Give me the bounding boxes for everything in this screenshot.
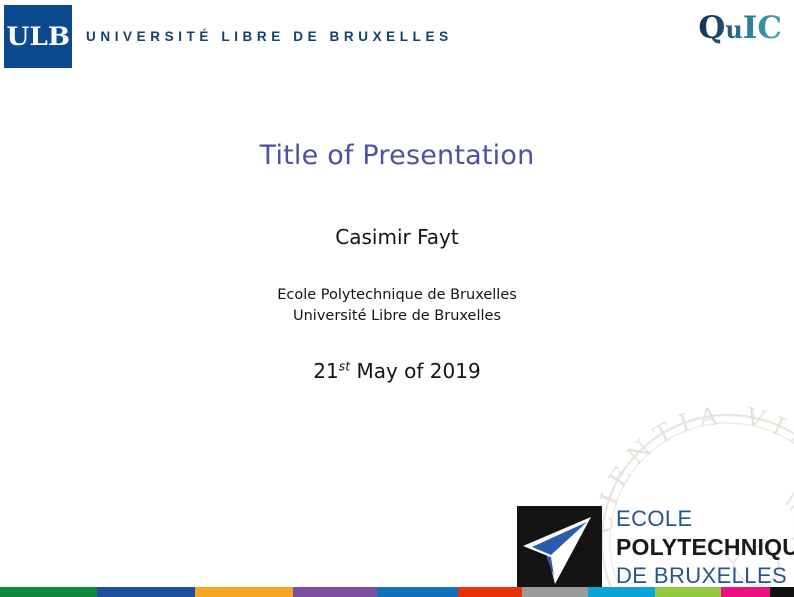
bottom-color-bar: [0, 587, 794, 597]
institute-line-2: Université Libre de Bruxelles: [0, 306, 794, 327]
epb-line-de-bruxelles: DE BRUXELLES: [616, 565, 794, 587]
ulb-logo-box: ULB: [4, 5, 72, 68]
color-bar-segment-black: [770, 587, 794, 597]
color-bar-segment-gray: [522, 587, 588, 597]
color-bar-segment-orange: [195, 587, 293, 597]
quic-logo: QuIC: [698, 13, 782, 44]
institute-line-1: Ecole Polytechnique de Bruxelles: [0, 285, 794, 306]
epb-line-ecole: ECOLE: [616, 508, 794, 530]
color-bar-segment-dark-blue: [97, 587, 196, 597]
ulb-wordmark-text: UNIVERSITÉ LIBRE DE BRUXELLES: [86, 29, 453, 44]
epb-line-polytechnique: POLYTECHNIQUE: [616, 536, 794, 559]
color-bar-segment-cyan: [588, 587, 655, 597]
ecole-polytechnique-logo: ECOLE POLYTECHNIQUE DE BRUXELLES: [517, 506, 794, 591]
title-block: Title of Presentation Casimir Fayt Ecole…: [0, 140, 794, 383]
color-bar-segment-magenta: [721, 587, 770, 597]
slide-header: ULB UNIVERSITÉ LIBRE DE BRUXELLES QuIC: [0, 0, 794, 75]
date-day-number: 21: [313, 359, 338, 383]
arrow-icon: [517, 506, 602, 591]
page-title: Title of Presentation: [0, 140, 794, 172]
color-bar-segment-azure-blue: [377, 587, 459, 597]
presentation-date: 21st May of 2019: [0, 359, 794, 383]
quic-logo-letters-ic: IC: [743, 10, 782, 46]
ulb-logo: ULB UNIVERSITÉ LIBRE DE BRUXELLES: [4, 5, 453, 68]
color-bar-segment-red: [458, 587, 522, 597]
color-bar-segment-purple: [293, 587, 376, 597]
date-month-year: May of 2019: [356, 359, 480, 383]
quic-logo-letter-u: u: [725, 15, 742, 44]
ulb-logo-mark-text: ULB: [6, 24, 70, 49]
presentation-title-slide: ULB UNIVERSITÉ LIBRE DE BRUXELLES QuIC S…: [0, 0, 794, 597]
epb-arrow-mark: [517, 506, 602, 591]
institute-block: Ecole Polytechnique de Bruxelles Univers…: [0, 285, 794, 326]
epb-text-block: ECOLE POLYTECHNIQUE DE BRUXELLES: [616, 508, 794, 587]
date-ordinal-suffix: st: [339, 358, 350, 373]
color-bar-segment-light-green: [655, 587, 721, 597]
color-bar-segment-green: [0, 587, 97, 597]
author-name: Casimir Fayt: [0, 225, 794, 249]
quic-logo-letter-q: Q: [698, 10, 725, 46]
